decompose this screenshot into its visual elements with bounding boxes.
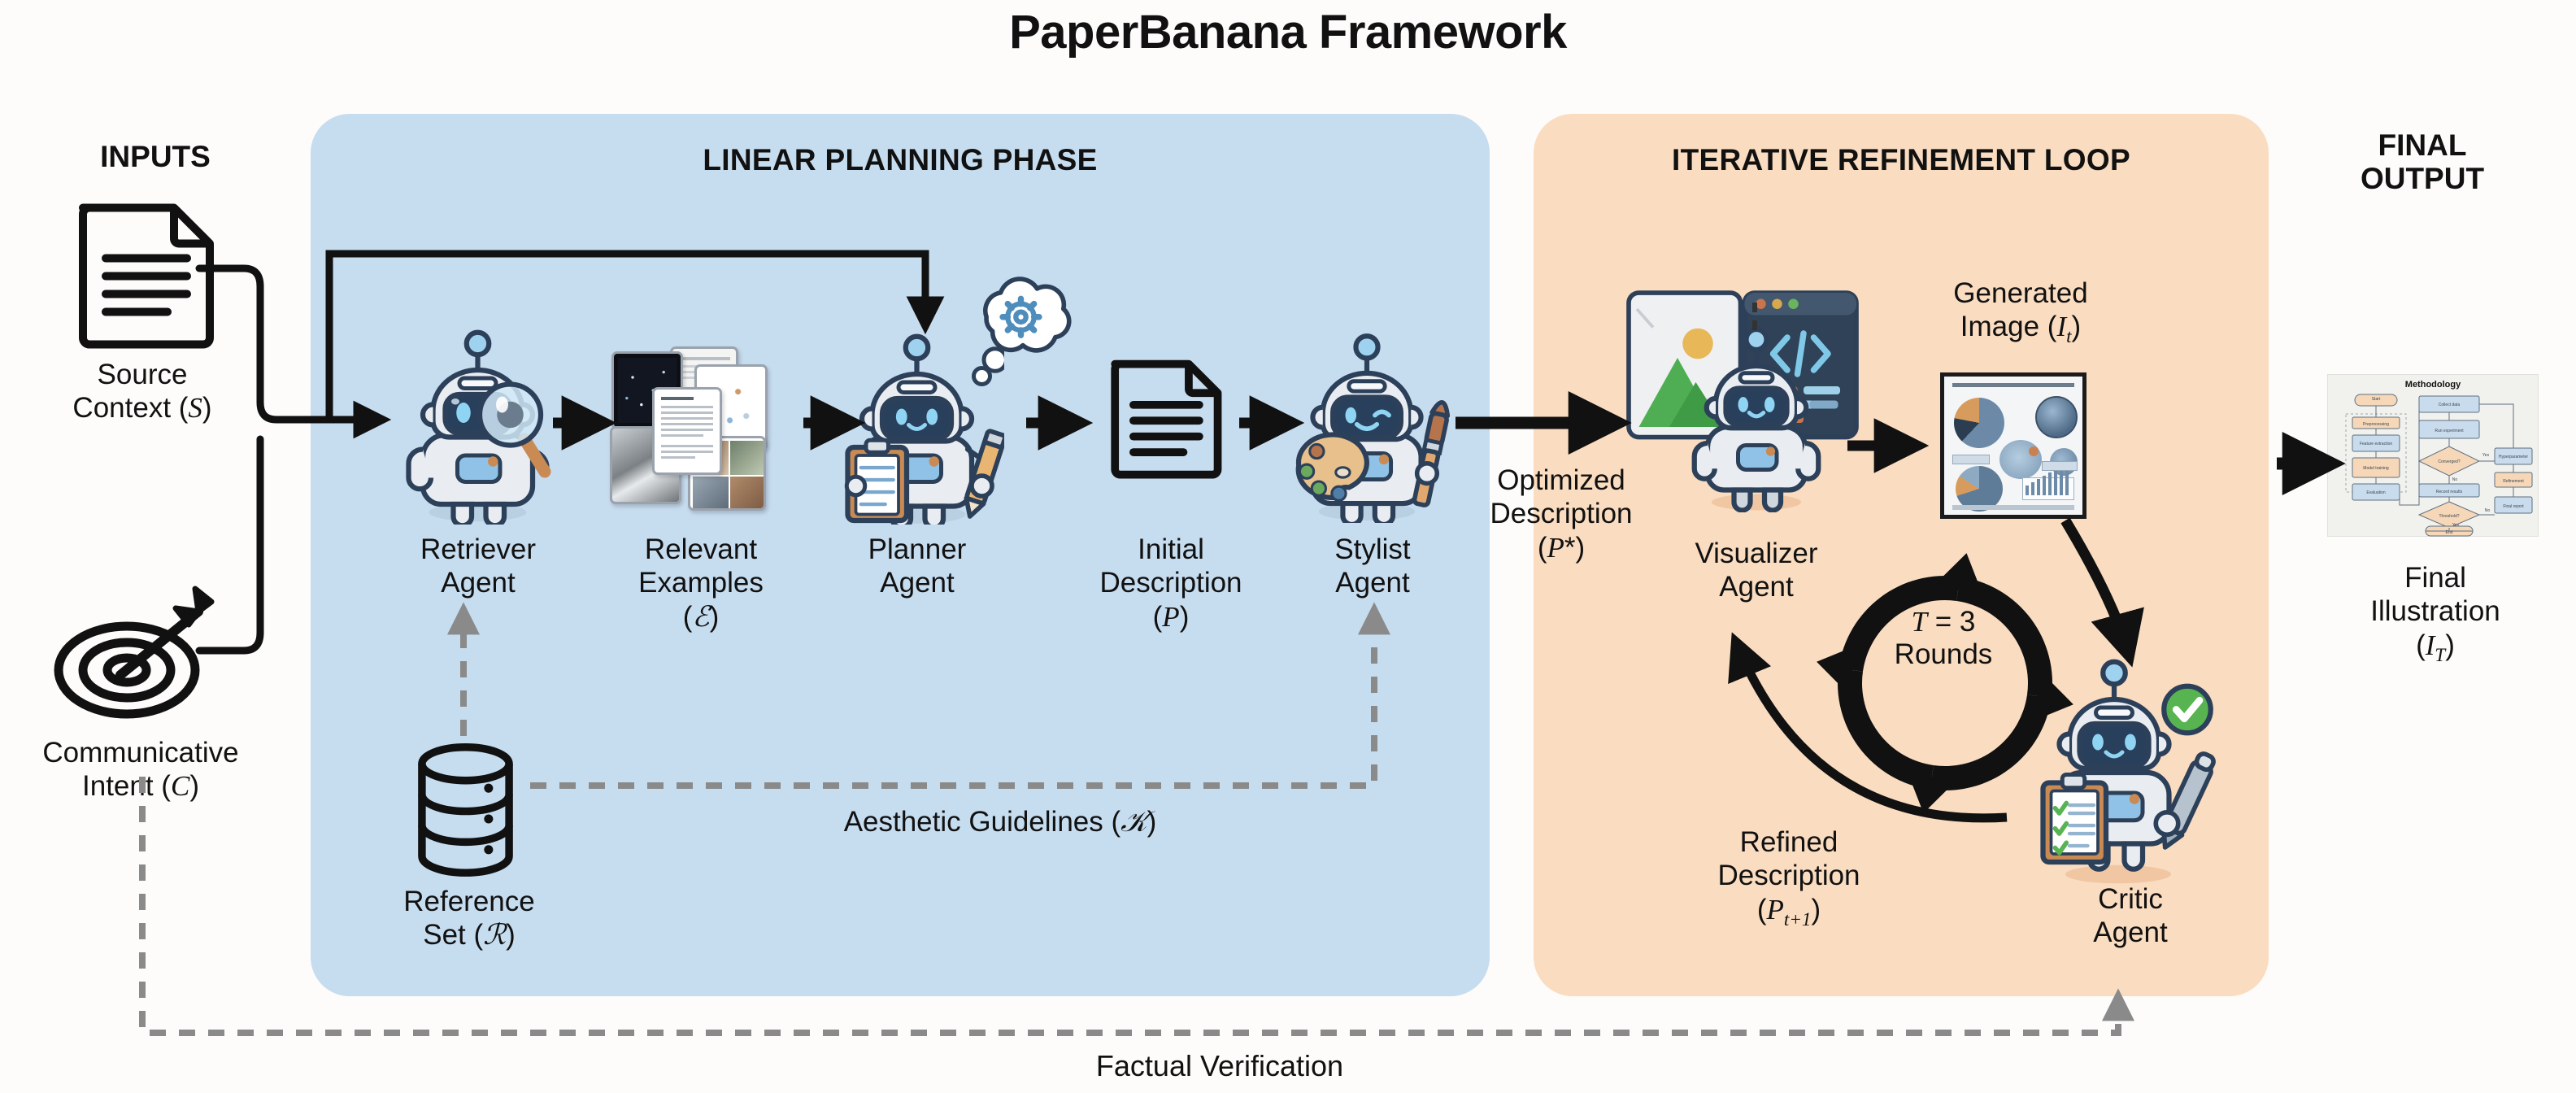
gear-icon-thought-bubble <box>958 277 1080 368</box>
database-icon-reference-set <box>407 742 524 896</box>
communicative-intent-label-line2: Intent (C) <box>82 770 199 802</box>
source-context-label-line1: Source <box>98 359 188 390</box>
source-context-label: Source Context (S) <box>0 358 293 425</box>
retriever-agent-label-line1: Retriever <box>420 533 536 565</box>
planner-agent-label-line2: Agent <box>880 567 954 599</box>
svg-text:No: No <box>2452 477 2458 482</box>
retriever-agent-label: Retriever Agent <box>364 533 592 600</box>
svg-text:Record results: Record results <box>2436 490 2463 494</box>
svg-text:Final report: Final report <box>2503 504 2524 509</box>
final-illustration-label: Final Illustration (IT) <box>2313 561 2557 666</box>
page-title: PaperBanana Framework <box>0 5 2576 59</box>
refined-description-label: Refined Description (Pt+1) <box>1667 825 1911 930</box>
generated-image-label-line2: Image (It) <box>1960 311 2081 342</box>
optimized-description-line2: Description <box>1490 498 1632 529</box>
visualizer-agent-label-line2: Agent <box>1719 571 1793 603</box>
planner-agent-label-line1: Planner <box>868 533 967 565</box>
critic-agent-label-line1: Critic <box>2098 883 2163 915</box>
svg-text:Collect data: Collect data <box>2439 403 2461 407</box>
relevant-examples-label-line3: (ℰ) <box>683 601 720 633</box>
generated-image-label-line1: Generated <box>1953 277 2087 309</box>
final-illustration-thumbnail: Methodology <box>2327 374 2539 537</box>
svg-text:End: End <box>2446 530 2453 535</box>
svg-text:Feature extraction: Feature extraction <box>2360 442 2393 446</box>
svg-text:Evaluation: Evaluation <box>2366 490 2386 495</box>
critic-agent-label-line2: Agent <box>2093 917 2167 948</box>
final-illustration-line2: Illustration <box>2370 595 2500 627</box>
svg-text:Hyperparameter: Hyperparameter <box>2499 455 2528 459</box>
visualizer-agent-label-line1: Visualizer <box>1695 538 1817 569</box>
target-icon-communicative-intent <box>49 586 228 724</box>
final-output-header-line2: OUTPUT <box>2361 162 2484 195</box>
communicative-intent-label-line1: Communicative <box>42 737 238 769</box>
final-output-header: FINAL OUTPUT <box>2269 128 2576 196</box>
robot-screens-icon-visualizer-agent <box>1679 325 1834 512</box>
initial-description-label-line3: (P) <box>1153 601 1190 633</box>
generated-image-thumbnail <box>1940 372 2086 519</box>
relevant-examples-label-line1: Relevant <box>645 533 757 565</box>
stylist-agent-label: Stylist Agent <box>1259 533 1486 600</box>
svg-text:Preprocessing: Preprocessing <box>2363 422 2389 427</box>
retriever-agent-label-line2: Agent <box>441 567 515 599</box>
communicative-intent-label: Communicative Intent (C) <box>0 736 291 803</box>
panel-loop-title: ITERATIVE REFINEMENT LOOP <box>1534 143 2269 177</box>
final-illustration-line3: (IT) <box>2416 629 2455 661</box>
initial-description-label-line1: Initial <box>1138 533 1204 565</box>
aesthetic-guidelines-text: Aesthetic Guidelines (𝒦) <box>844 806 1157 838</box>
optimized-description-line3: (P*) <box>1538 532 1585 564</box>
panel-linear-title: LINEAR PLANNING PHASE <box>311 143 1490 177</box>
final-illustration-line1: Final <box>2404 562 2466 594</box>
factual-verification-label: Factual Verification <box>976 1049 1464 1083</box>
initial-description-label: Initial Description (P) <box>1057 533 1285 634</box>
stylist-agent-label-line1: Stylist <box>1334 533 1410 565</box>
document-icon-initial-description <box>1102 356 1234 480</box>
critic-agent-label: Critic Agent <box>2025 882 2236 950</box>
svg-text:Yes: Yes <box>2452 523 2460 528</box>
source-context-label-line2: Context (S) <box>72 392 211 424</box>
reference-set-label-line2: Set (ℛ) <box>423 919 516 951</box>
svg-text:Converged?: Converged? <box>2438 459 2460 464</box>
image-stack-icon-relevant-examples <box>603 342 798 529</box>
refined-description-line2: Description <box>1717 860 1860 891</box>
svg-text:Run experiment: Run experiment <box>2435 429 2464 433</box>
robot-magnifier-icon-retriever-agent <box>390 321 565 525</box>
reference-set-label: Reference Set (ℛ) <box>355 885 583 952</box>
optimized-description-line1: Optimized <box>1497 464 1625 496</box>
planner-agent-label: Planner Agent <box>803 533 1031 600</box>
generated-image-label: Generated Image (It) <box>1895 277 2147 348</box>
initial-description-label-line2: Description <box>1099 567 1242 599</box>
svg-text:Yes: Yes <box>2482 453 2490 458</box>
robot-palette-icon-stylist-agent <box>1281 324 1453 523</box>
example-card <box>652 387 722 475</box>
rounds-cycle-icon <box>1815 553 2075 813</box>
reference-set-label-line1: Reference <box>403 886 534 917</box>
inputs-header: INPUTS <box>0 140 311 174</box>
svg-text:No: No <box>2485 508 2491 513</box>
refined-description-line1: Refined <box>1740 826 1838 858</box>
stylist-agent-label-line2: Agent <box>1335 567 1409 599</box>
refined-description-line3: (Pt+1) <box>1757 894 1821 925</box>
svg-text:Threshold?: Threshold? <box>2439 514 2459 519</box>
final-output-header-line1: FINAL <box>2378 128 2467 162</box>
relevant-examples-label: Relevant Examples (ℰ) <box>587 533 815 634</box>
svg-text:Model training: Model training <box>2363 466 2389 471</box>
aesthetic-guidelines-label: Aesthetic Guidelines (𝒦) <box>716 805 1285 838</box>
svg-text:Start: Start <box>2372 397 2381 402</box>
svg-text:Refinement: Refinement <box>2503 479 2524 484</box>
relevant-examples-label-line2: Examples <box>638 567 764 599</box>
document-icon-source-context <box>67 199 229 350</box>
